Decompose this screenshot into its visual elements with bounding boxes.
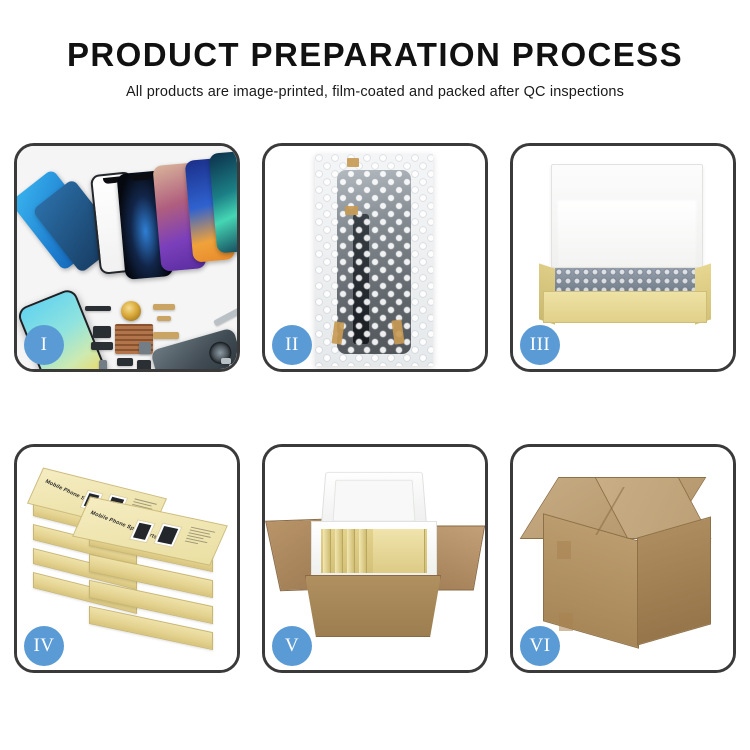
step-panel-6[interactable]: VI xyxy=(510,444,736,673)
step-panel-4[interactable]: Mobile Phone Spare Parts xyxy=(14,444,240,673)
step-panel-5[interactable]: V xyxy=(262,444,488,673)
part-chip-icon xyxy=(117,358,133,366)
part-cable-icon xyxy=(153,332,179,339)
tape-mid-icon xyxy=(345,206,358,215)
carton-body-icon xyxy=(305,575,441,637)
packed-boxes-icon xyxy=(321,529,427,573)
box-stack-icon: Mobile Phone Spare Parts xyxy=(31,465,231,661)
part-tan-small-icon xyxy=(157,316,171,321)
page-subtitle: All products are image-printed, film-coa… xyxy=(0,84,750,100)
step-badge-4: IV xyxy=(24,626,64,666)
part-flex-icon xyxy=(91,342,113,350)
step-badge-6: VI xyxy=(520,626,560,666)
part-button-icon xyxy=(99,360,107,372)
box-swatch-4 xyxy=(153,523,182,548)
step-panel-3[interactable]: III xyxy=(510,143,736,372)
carton-face-right-icon xyxy=(637,516,711,645)
process-steps-grid: I II xyxy=(14,143,736,673)
step-badge-5: V xyxy=(272,626,312,666)
step-panel-2[interactable]: II xyxy=(262,143,488,372)
tape-top-icon xyxy=(347,158,359,167)
bubble-wrap-bag-icon xyxy=(315,154,433,366)
foam-sheet-icon xyxy=(557,198,697,266)
part-connector-icon xyxy=(93,326,111,338)
part-tan-strip-icon xyxy=(153,304,175,310)
product-preparation-process-page: PRODUCT PREPARATION PROCESS All products… xyxy=(0,0,750,750)
box-textlines-front xyxy=(184,527,217,549)
box-front-panel-icon xyxy=(543,291,707,323)
screw-small-icon xyxy=(229,364,236,369)
gold-coil-part-icon xyxy=(121,301,141,321)
header: PRODUCT PREPARATION PROCESS All products… xyxy=(0,0,750,100)
page-title: PRODUCT PREPARATION PROCESS xyxy=(0,38,750,73)
part-speaker-icon xyxy=(137,360,151,372)
step-panel-1[interactable]: I xyxy=(14,143,240,372)
part-camera-icon xyxy=(139,342,151,354)
carton-tape-upper-icon xyxy=(557,541,571,559)
carton-tape-lower-icon xyxy=(559,613,573,631)
box-swatch-3 xyxy=(129,519,156,543)
step-badge-1: I xyxy=(24,325,64,365)
step-badge-3: III xyxy=(520,325,560,365)
step-badge-2: II xyxy=(272,325,312,365)
part-strip-icon xyxy=(85,306,111,311)
